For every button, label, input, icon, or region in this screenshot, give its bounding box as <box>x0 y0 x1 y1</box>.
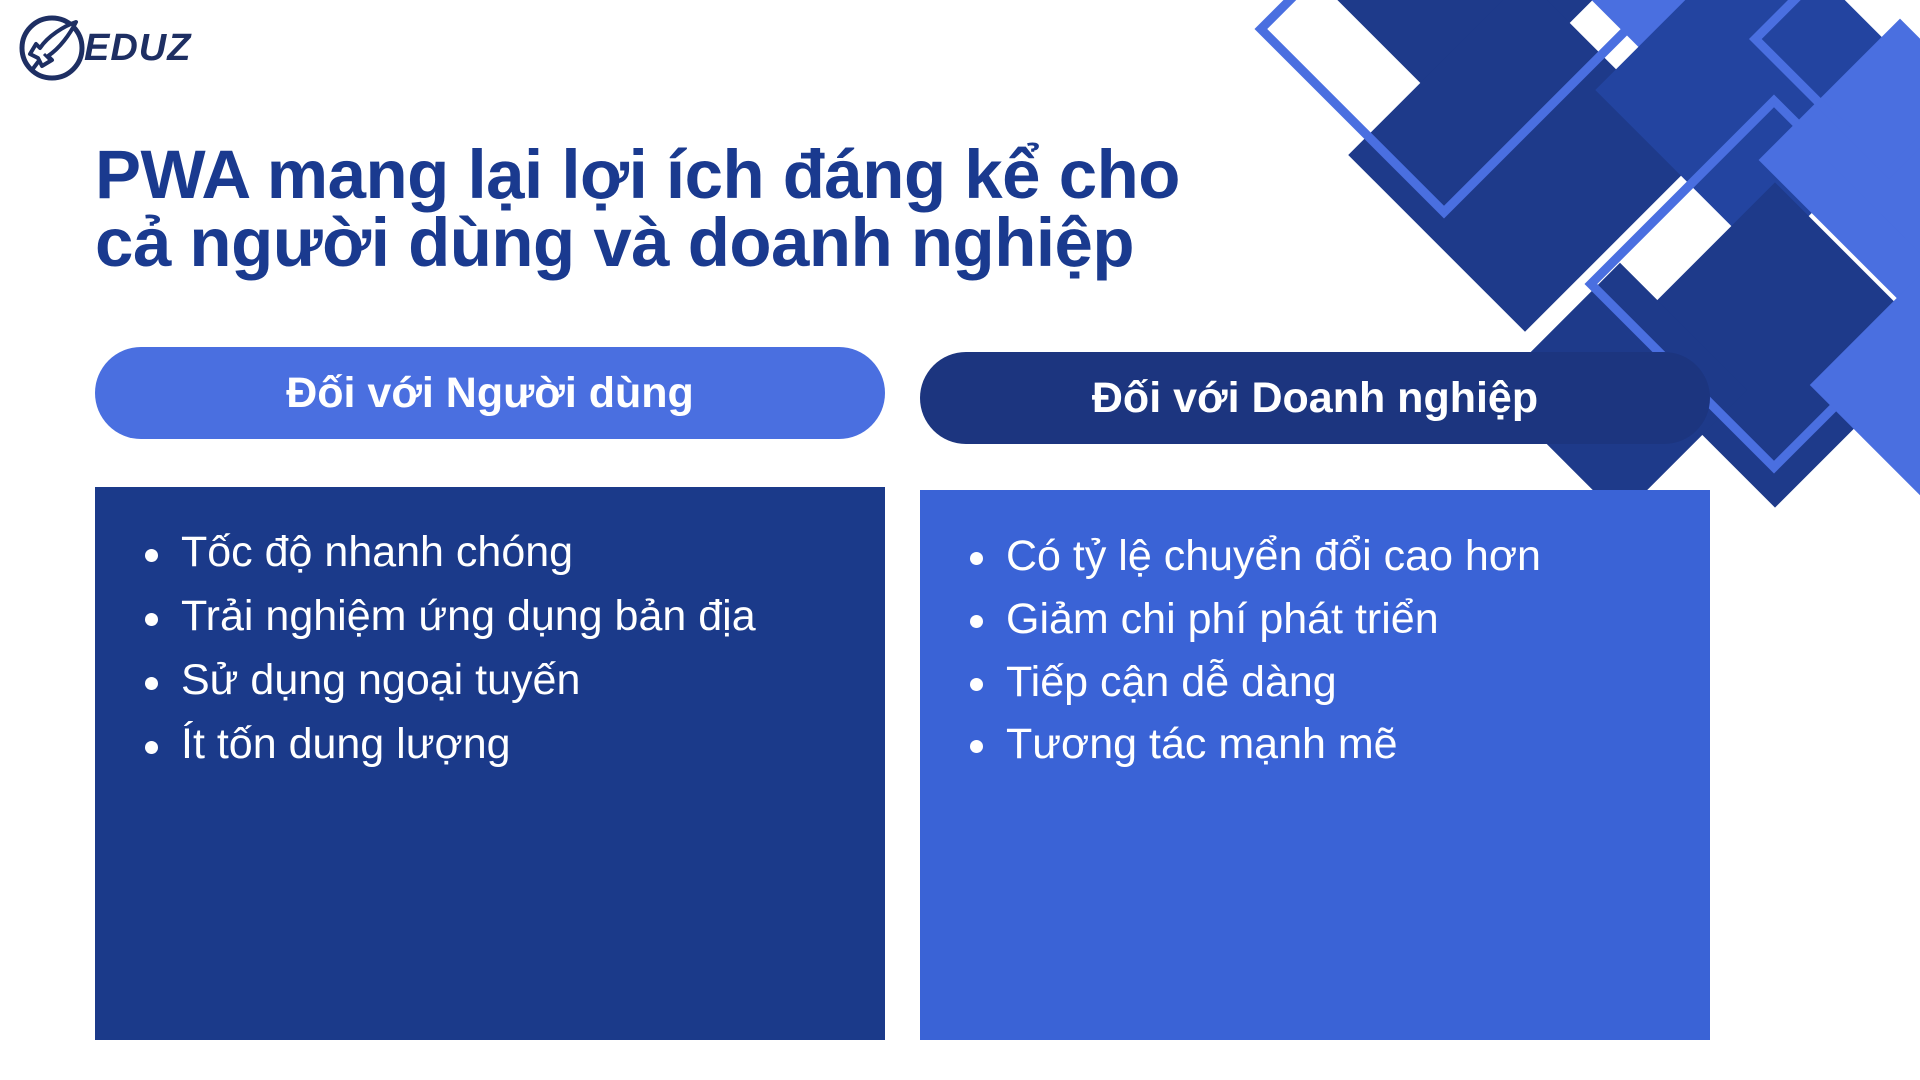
list-item: Ít tốn dung lượng <box>129 717 851 773</box>
diamond-shape <box>1612 182 1920 507</box>
list-item: Tiếp cận dễ dàng <box>954 654 1676 711</box>
column-header-business: Đối với Doanh nghiệp <box>920 352 1710 444</box>
page-title-line-2: cả người dùng và doanh nghiệp <box>95 209 1145 277</box>
page-title-line-1: PWA mang lại lợi ích đáng kể cho <box>95 141 1145 209</box>
diamond-shape <box>1810 265 1920 505</box>
list-item: Có tỷ lệ chuyển đổi cao hơn <box>954 528 1676 585</box>
list-item: Tốc độ nhanh chóng <box>129 525 851 581</box>
brand-logo[interactable]: EDUZ <box>14 8 244 88</box>
column-header-business-label: Đối với Doanh nghiệp <box>1092 374 1538 423</box>
diamond-shape <box>1348 0 1702 332</box>
diamond-shape <box>1759 19 1920 302</box>
benefits-list-users: Tốc độ nhanh chóng Trải nghiệm ứng dụng … <box>129 525 851 773</box>
column-header-users: Đối với Người dùng <box>95 347 885 439</box>
slide-canvas: EDUZ PWA mang lại lợi ích đáng kể cho cả… <box>0 0 1920 1080</box>
brand-logo-text: EDUZ <box>84 27 191 70</box>
list-item: Giảm chi phí phát triển <box>954 591 1676 648</box>
rocket-in-circle-icon <box>14 10 90 86</box>
column-header-users-label: Đối với Người dùng <box>286 369 694 418</box>
benefits-box-users: Tốc độ nhanh chóng Trải nghiệm ứng dụng … <box>95 487 885 1040</box>
diamond-shape <box>1595 0 1920 260</box>
list-item: Sử dụng ngoại tuyến <box>129 653 851 709</box>
benefits-box-business: Có tỷ lệ chuyển đổi cao hơn Giảm chi phí… <box>920 490 1710 1040</box>
diamond-outline-shape <box>1749 0 1920 179</box>
decorative-diamond-pattern <box>1100 0 1920 560</box>
diamond-outline-shape <box>1254 0 1633 219</box>
diamond-shape <box>1527 0 1824 83</box>
list-item: Trải nghiệm ứng dụng bản địa <box>129 589 851 645</box>
page-title: PWA mang lại lợi ích đáng kể cho cả ngườ… <box>95 141 1145 276</box>
diamond-shape <box>1302 0 1627 128</box>
list-item: Tương tác mạnh mẽ <box>954 716 1676 773</box>
benefits-list-business: Có tỷ lệ chuyển đổi cao hơn Giảm chi phí… <box>954 528 1676 773</box>
